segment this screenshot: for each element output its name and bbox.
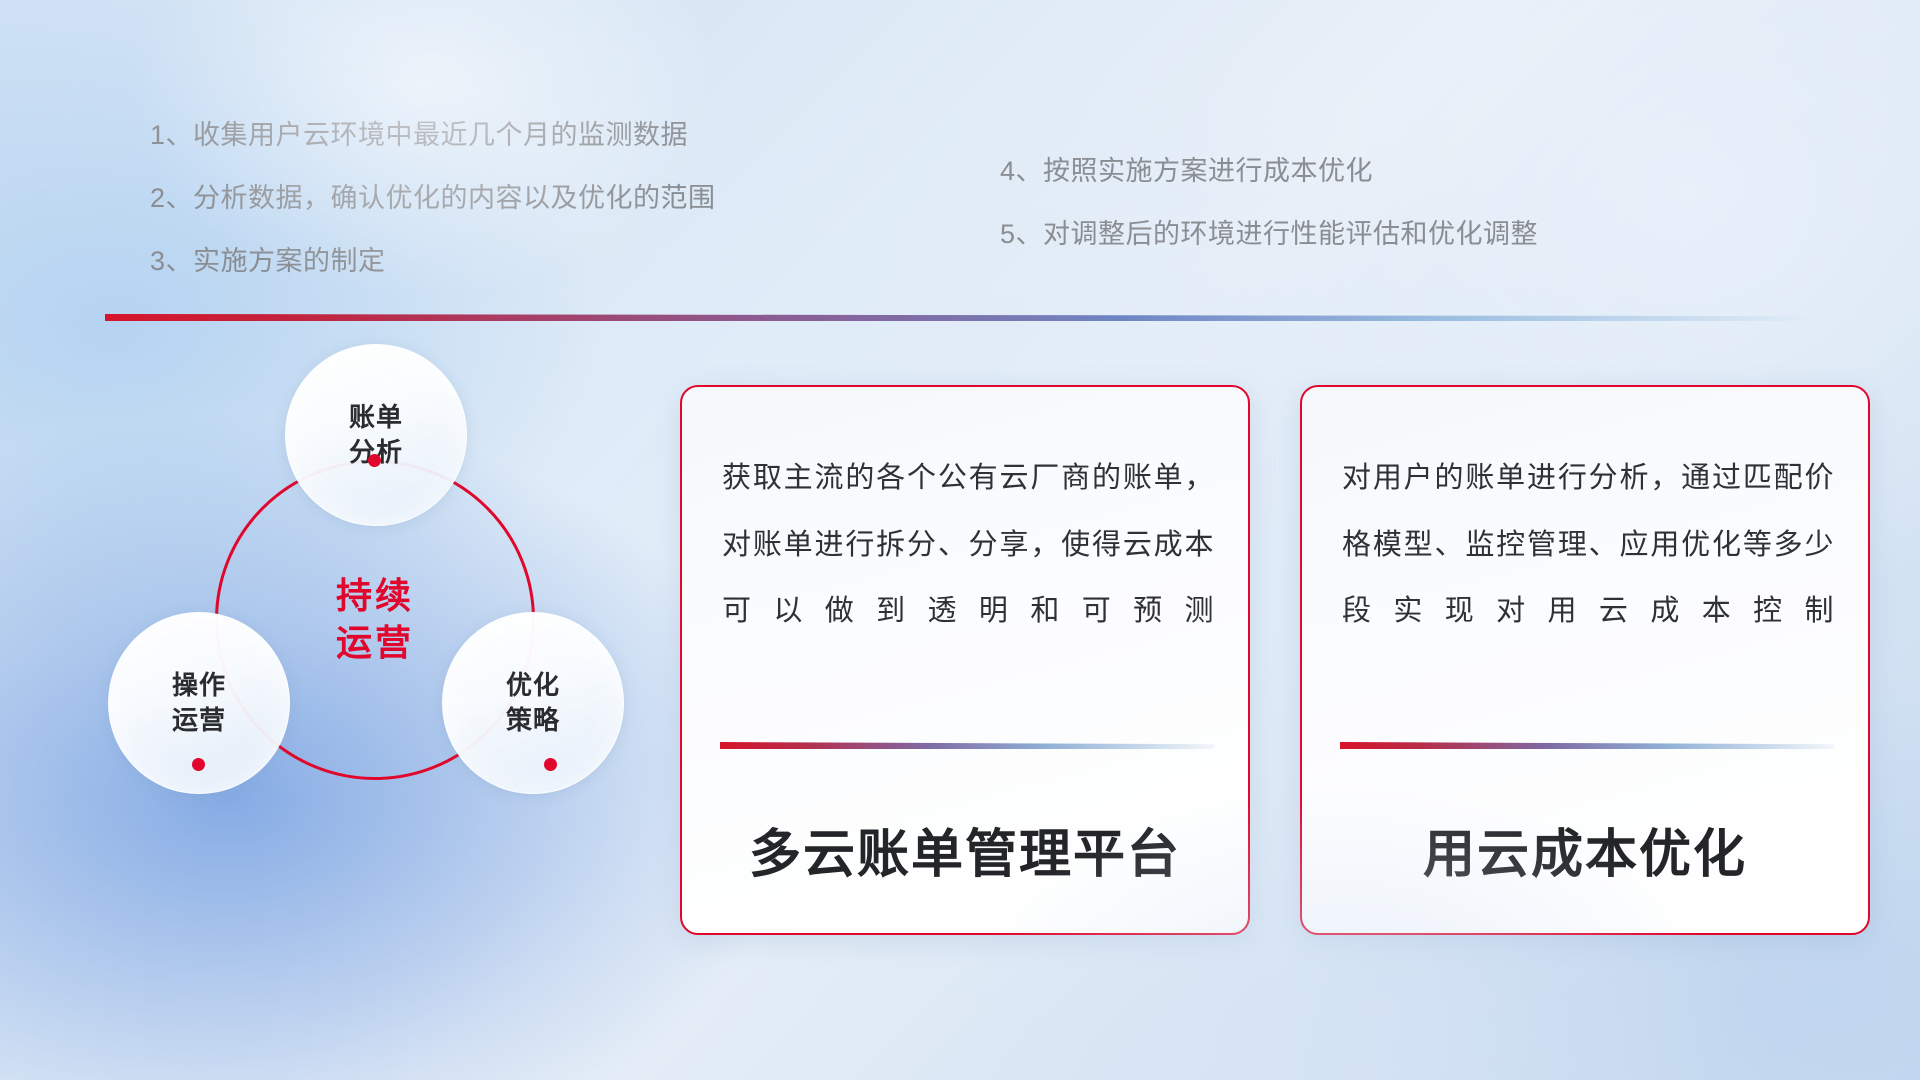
steps-left-column: 1、收集用户云环境中最近几个月的监测数据 2、分析数据，确认优化的内容以及优化的… — [150, 122, 716, 275]
step-item-1: 1、收集用户云环境中最近几个月的监测数据 — [150, 122, 716, 149]
step-item-3: 3、实施方案的制定 — [150, 248, 716, 275]
card-cloud-cost-optimization[interactable]: 对用户的账单进行分析，通过匹配价格模型、监控管理、应用优化等多少段实现对用云成本… — [1300, 385, 1870, 935]
cycle-dot-right-icon — [544, 758, 557, 771]
cycle-center-label-line1: 持续 — [336, 573, 414, 620]
card-1-body-text: 获取主流的各个公有云厂商的账单，对账单进行拆分、分享，使得云成本可以做到透明和可… — [722, 445, 1214, 645]
cycle-diagram: 持续 运营 账单 分析 操作 运营 优化 策略 — [90, 340, 650, 940]
card-multi-cloud-bill-platform[interactable]: 获取主流的各个公有云厂商的账单，对账单进行拆分、分享，使得云成本可以做到透明和可… — [680, 385, 1250, 935]
card-1-title: 多云账单管理平台 — [682, 812, 1248, 887]
card-2-rule-line — [1340, 742, 1834, 749]
step-item-2: 2、分析数据，确认优化的内容以及优化的范围 — [150, 185, 716, 212]
cycle-center-label-line2: 运营 — [336, 620, 414, 667]
cycle-dot-left-icon — [192, 758, 205, 771]
card-2-body-text: 对用户的账单进行分析，通过匹配价格模型、监控管理、应用优化等多少段实现对用云成本… — [1342, 445, 1834, 645]
cycle-dot-top-icon — [368, 454, 381, 467]
steps-right-column: 4、按照实施方案进行成本优化 5、对调整后的环境进行性能评估和优化调整 — [1000, 158, 1538, 248]
cycle-center-label: 持续 运营 — [215, 460, 535, 780]
step-item-5: 5、对调整后的环境进行性能评估和优化调整 — [1000, 221, 1538, 248]
card-1-rule-line — [720, 742, 1214, 749]
card-2-title: 用云成本优化 — [1302, 812, 1868, 887]
slide-canvas: 1、收集用户云环境中最近几个月的监测数据 2、分析数据，确认优化的内容以及优化的… — [0, 0, 1920, 1080]
section-divider-line — [105, 314, 1805, 321]
cycle-node-bill-analysis-line1: 账单 — [349, 400, 403, 435]
step-item-4: 4、按照实施方案进行成本优化 — [1000, 158, 1538, 185]
